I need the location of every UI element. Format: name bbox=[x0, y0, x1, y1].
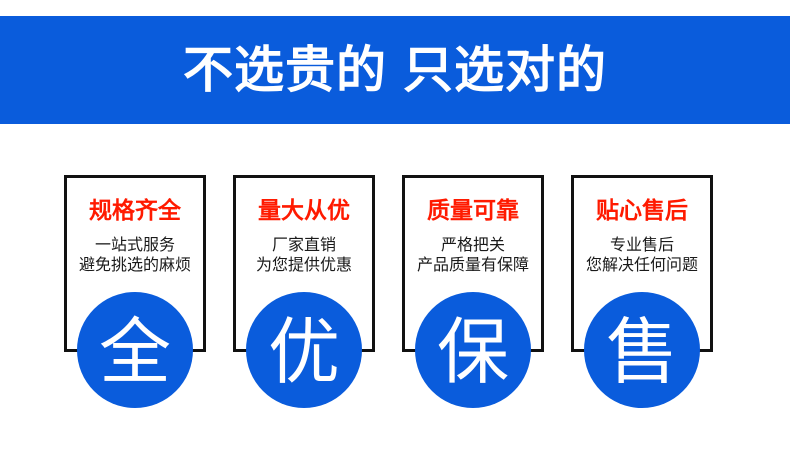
feature-card-subtitle-line-2: 产品质量有保障 bbox=[395, 255, 551, 275]
feature-card-subtitle-line-1: 严格把关 bbox=[395, 235, 551, 255]
headline-banner: 不选贵的只选对的 bbox=[0, 16, 790, 124]
feature-card-subtitle: 一站式服务 避免挑选的麻烦 bbox=[57, 235, 213, 274]
feature-badge-character: 全 bbox=[99, 316, 171, 388]
feature-badge-circle: 全 bbox=[77, 292, 193, 408]
feature-card-title: 量大从优 bbox=[236, 198, 372, 224]
feature-card-title: 规格齐全 bbox=[67, 198, 203, 224]
feature-card-title: 质量可靠 bbox=[405, 198, 541, 224]
feature-badge-circle: 优 bbox=[246, 292, 362, 408]
banner-title: 不选贵的只选对的 bbox=[183, 45, 607, 95]
feature-card-subtitle: 严格把关 产品质量有保障 bbox=[395, 235, 551, 274]
feature-card-subtitle: 厂家直销 为您提供优惠 bbox=[226, 235, 382, 274]
banner-title-part-2: 只选对的 bbox=[403, 41, 607, 99]
feature-card-row: 规格齐全 一站式服务 避免挑选的麻烦 全 量大从优 厂家直销 为您提供优惠 优 … bbox=[0, 175, 790, 415]
feature-card-subtitle-line-1: 专业售后 bbox=[564, 235, 720, 255]
feature-card-subtitle-line-1: 一站式服务 bbox=[57, 235, 213, 255]
banner-title-part-1: 不选贵的 bbox=[183, 41, 387, 99]
feature-badge-character: 优 bbox=[268, 316, 340, 388]
feature-badge-circle: 售 bbox=[584, 292, 700, 408]
feature-card-subtitle-line-1: 厂家直销 bbox=[226, 235, 382, 255]
feature-card-subtitle-line-2: 避免挑选的麻烦 bbox=[57, 255, 213, 275]
feature-badge-circle: 保 bbox=[415, 292, 531, 408]
feature-badge-character: 售 bbox=[606, 316, 678, 388]
feature-badge-character: 保 bbox=[437, 316, 509, 388]
promo-banner-page: 不选贵的只选对的 规格齐全 一站式服务 避免挑选的麻烦 全 量大从优 厂家直销 … bbox=[0, 0, 790, 461]
feature-card-subtitle: 专业售后 您解决任何问题 bbox=[564, 235, 720, 274]
feature-card-subtitle-line-2: 为您提供优惠 bbox=[226, 255, 382, 275]
feature-card-subtitle-line-2: 您解决任何问题 bbox=[564, 255, 720, 275]
feature-card-title: 贴心售后 bbox=[574, 198, 710, 224]
